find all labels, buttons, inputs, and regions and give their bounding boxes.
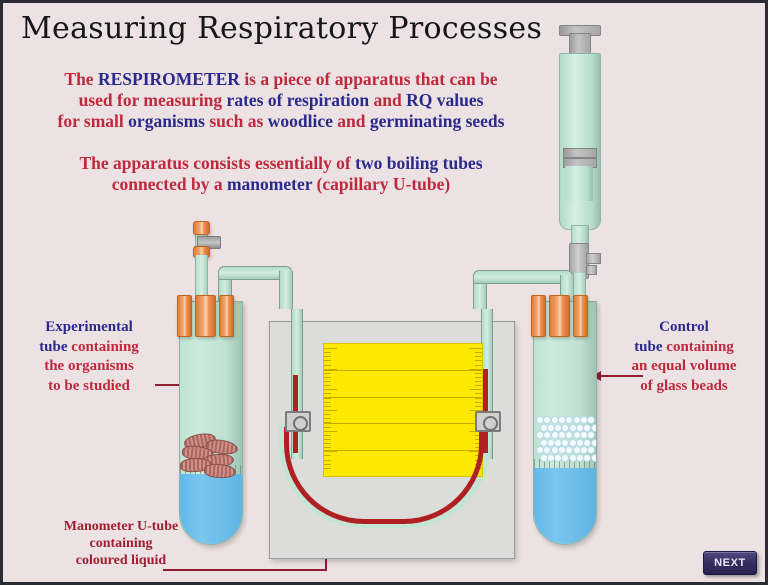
scale-tick (475, 352, 482, 353)
text-run: The (64, 69, 98, 89)
scale-tick (475, 402, 482, 403)
scale-tick (324, 348, 337, 349)
left-tube-inlet-seal-top (193, 221, 210, 235)
label-line: tube (39, 339, 67, 355)
scale-tick (324, 385, 331, 386)
intro-line-1: The RESPIROMETER is a piece of apparatus… (11, 69, 551, 90)
text-run: such as (205, 111, 268, 131)
scale-tick (324, 418, 331, 419)
control-tube-arrow-line (601, 375, 643, 377)
control-tube (533, 301, 597, 545)
manometer-arrow-horizontal (163, 569, 327, 571)
scale-tick (475, 365, 482, 366)
label-line: containing (68, 339, 139, 355)
scale-tick (324, 410, 337, 411)
label-line: to be studied (9, 377, 169, 397)
scale-tick (324, 356, 331, 357)
apparatus-paragraph: The apparatus consists essentially of tw… (11, 153, 551, 195)
scale-tick (324, 393, 331, 394)
text-run-emphasis: RESPIROMETER (98, 69, 240, 89)
scale-tick (324, 360, 331, 361)
text-run-emphasis: organisms (128, 111, 205, 131)
text-run: and (333, 111, 370, 131)
intro-line-2: used for measuring rates of respiration … (11, 90, 551, 111)
label-line: containing (663, 339, 734, 355)
text-run: (capillary U-tube) (312, 174, 450, 194)
scale-tick (475, 406, 482, 407)
label-line: Experimental (45, 319, 133, 335)
apparatus-line-2: connected by a manometer (capillary U-tu… (11, 174, 551, 195)
syringe-barrel (559, 53, 601, 230)
text-run-emphasis: RQ values (406, 90, 483, 110)
text-run: and (369, 90, 406, 110)
scale-tick (469, 348, 482, 349)
page-title: Measuring Respiratory Processes (21, 11, 542, 46)
control-tube-bung-right (573, 295, 588, 337)
control-tube-label: Control tube containing an equal volume … (603, 318, 765, 396)
experimental-tube-bung-left (177, 295, 192, 337)
label-line: the organisms (9, 357, 169, 377)
label-line: an equal volume (603, 357, 765, 377)
intro-paragraph: The RESPIROMETER is a piece of apparatus… (11, 69, 551, 132)
scale-major-line (324, 397, 482, 398)
scale-tick (324, 402, 331, 403)
glass-bead (587, 431, 595, 439)
left-hose-vertical-out (279, 271, 293, 309)
apparatus-line-1: The apparatus consists essentially of tw… (11, 153, 551, 174)
experimental-tube-bung-right (219, 295, 234, 337)
label-line: Control (659, 319, 709, 335)
left-tube-clip-icon[interactable] (285, 411, 311, 432)
scale-tick (469, 389, 482, 390)
text-run: used for measuring (79, 90, 227, 110)
syringe-tap-handle[interactable] (586, 253, 601, 264)
scale-tick (324, 377, 331, 378)
syringe-plunger-seal-top (563, 148, 597, 158)
scale-tick (324, 373, 331, 374)
text-run-emphasis: woodlice (268, 111, 333, 131)
glass-bead-field (534, 414, 596, 462)
scale-tick (324, 389, 337, 390)
left-tube-inlet-tube (195, 255, 208, 297)
scale-tick (324, 352, 331, 353)
glass-bead (587, 416, 595, 424)
syringe-tap-spur (586, 265, 597, 275)
experimental-tube-liquid (180, 474, 242, 544)
glass-bead (591, 454, 597, 462)
text-run-emphasis: germinating seeds (370, 111, 505, 131)
right-hose-horizontal (473, 270, 573, 284)
glass-bead (565, 431, 573, 439)
right-tube-clip-icon[interactable] (475, 411, 501, 432)
control-tube-bung-left (531, 295, 546, 337)
text-run: The apparatus consists essentially of (79, 153, 355, 173)
scale-tick (324, 414, 331, 415)
scale-major-line (324, 423, 482, 424)
glass-bead (565, 416, 573, 424)
text-run-emphasis: rates of respiration (227, 90, 370, 110)
experimental-tube-bung-center (195, 295, 216, 337)
label-line: coloured liquid (31, 552, 211, 569)
slide-canvas: Measuring Respiratory Processes The RESP… (0, 0, 768, 585)
next-button[interactable]: NEXT (703, 551, 757, 575)
experimental-tube-label: Experimental tube containing the organis… (9, 318, 169, 396)
text-run: connected by a (112, 174, 227, 194)
scale-tick (324, 406, 331, 407)
experimental-tube (179, 301, 243, 545)
scale-tick (475, 381, 482, 382)
text-run: is a piece of apparatus that can be (240, 69, 498, 89)
scale-tick (475, 377, 482, 378)
scale-tick (475, 385, 482, 386)
scale-tick (475, 393, 482, 394)
text-run: for small (58, 111, 129, 131)
label-line: tube (634, 339, 662, 355)
control-tube-bung-center (549, 295, 570, 337)
scale-tick (324, 381, 331, 382)
scale-tick (475, 360, 482, 361)
scale-tick (324, 365, 331, 366)
syringe-plunger-tip (565, 166, 593, 201)
scale-major-line (324, 370, 482, 371)
scale-tick (475, 356, 482, 357)
text-run-emphasis: manometer (227, 174, 312, 194)
scale-tick (475, 373, 482, 374)
label-line: containing (31, 535, 211, 552)
text-run-emphasis: two boiling tubes (355, 153, 482, 173)
control-tube-liquid (534, 468, 596, 544)
label-line: of glass beads (603, 377, 765, 397)
intro-line-3: for small organisms such as woodlice and… (11, 111, 551, 132)
